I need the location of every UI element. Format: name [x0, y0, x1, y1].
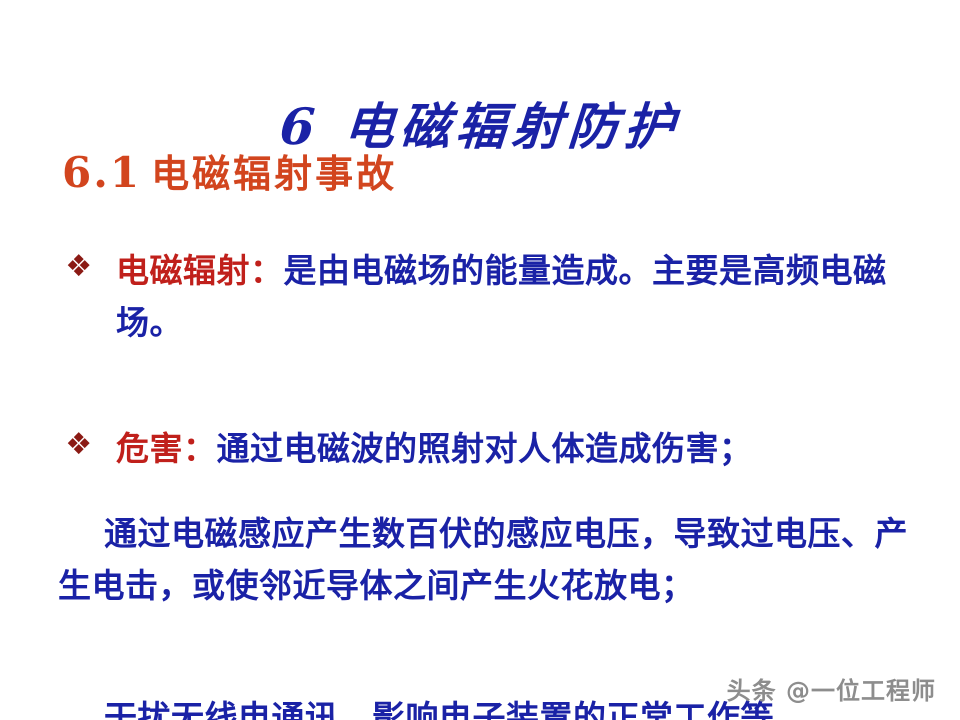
slide-canvas: 6 电磁辐射防护 6.1电磁辐射事故 ❖电磁辐射：是由电磁场的能量造成。主要是高…	[0, 0, 960, 720]
section-number: 6.1	[62, 148, 141, 197]
paragraph-1-lead: 电磁辐射：	[116, 251, 284, 290]
paragraph-3: 通过电磁感应产生数百伏的感应电压，导致过电压、产生电击，或使邻近导体之间产生火花…	[58, 508, 918, 612]
section-heading: 6.1电磁辐射事故	[62, 150, 397, 196]
spacer-1	[58, 382, 918, 390]
spacer-2	[58, 645, 918, 659]
body-content: ❖电磁辐射：是由电磁场的能量造成。主要是高频电磁场。 ❖危害：通过电磁波的照射对…	[58, 212, 918, 720]
bullet-paragraph-2: ❖危害：通过电磁波的照射对人体造成伤害；	[58, 423, 918, 475]
paragraph-2-body: 通过电磁波的照射对人体造成伤害；	[217, 429, 753, 468]
paragraph-3-body: 通过电磁感应产生数百伏的感应电压，导致过电压、产生电击，或使邻近导体之间产生火花…	[58, 514, 908, 605]
page-title: 6 电磁辐射防护	[0, 102, 960, 152]
watermark-label: 头条 @一位工程师	[727, 671, 936, 706]
diamond-bullet-icon: ❖	[62, 425, 96, 465]
bullet-paragraph-1: ❖电磁辐射：是由电磁场的能量造成。主要是高频电磁场。	[58, 245, 918, 349]
section-heading-text: 电磁辐射事故	[151, 152, 397, 196]
paragraph-2-lead: 危害：	[116, 429, 217, 468]
diamond-bullet-icon: ❖	[62, 247, 96, 287]
paragraph-4-body: 干扰无线电通讯、影响电子装置的正常工作等。	[104, 698, 808, 720]
